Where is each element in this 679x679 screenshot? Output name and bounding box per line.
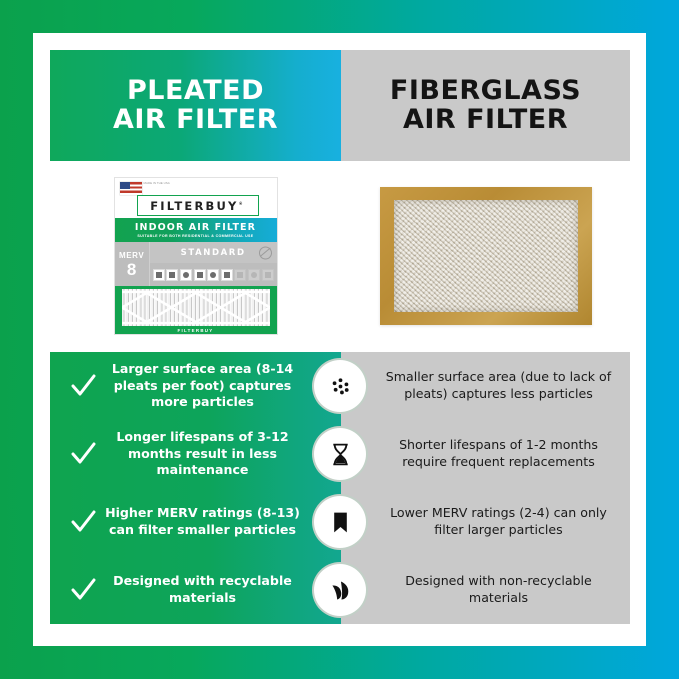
row-fiberglass-cell: Shorter lifespans of 1-2 months require … bbox=[341, 420, 630, 488]
row-pleated-text: Designed with recyclable materials bbox=[104, 573, 301, 606]
smog-icon bbox=[221, 269, 233, 281]
row-fiberglass-cell: Smaller surface area (due to lack of ple… bbox=[341, 352, 630, 420]
particles-icon bbox=[312, 358, 368, 414]
fiberglass-product-cell bbox=[341, 161, 630, 351]
row-fiberglass-cell: Designed with non-recyclable materials bbox=[341, 556, 630, 624]
pleated-media-window: FILTERBUY bbox=[115, 286, 277, 334]
header-pleated-line1: PLEATED bbox=[113, 77, 278, 105]
package-spec-right: STANDARD bbox=[150, 242, 277, 286]
row-pleated-text: Longer lifespans of 3-12 months result i… bbox=[104, 429, 301, 479]
header-pleated-line2: AIR FILTER bbox=[113, 106, 278, 134]
row-fiberglass-text: Shorter lifespans of 1-2 months require … bbox=[383, 437, 614, 470]
header-banner: PLEATED AIR FILTER FIBERGLASS AIR FILTER bbox=[50, 50, 630, 161]
row-pleated-text: Larger surface area (8-14 pleats per foo… bbox=[104, 361, 301, 411]
virus-icon bbox=[248, 269, 260, 281]
support-wire-pattern bbox=[122, 289, 270, 326]
smoke-icon bbox=[262, 269, 274, 281]
poster-gradient-border: PLEATED AIR FILTER FIBERGLASS AIR FILTER… bbox=[0, 0, 679, 679]
capability-icon-strip bbox=[150, 263, 277, 286]
row-pleated-text: Higher MERV ratings (8-13) can filter sm… bbox=[104, 505, 301, 538]
pleated-product-cell: MADE IN THE USA FILTERBUY® INDOOR AIR FI… bbox=[50, 161, 341, 351]
media-foot-brand: FILTERBUY bbox=[115, 326, 277, 334]
row-fiberglass-cell: Lower MERV ratings (2-4) can only filter… bbox=[341, 488, 630, 556]
checkmark-icon bbox=[68, 507, 98, 537]
brand-name-text: FILTERBUY bbox=[150, 199, 238, 213]
band-sub-text: SUITABLE FOR BOTH RESIDENTIAL & COMMERCI… bbox=[137, 234, 253, 238]
table-row: Designed with recyclable materials Desig… bbox=[50, 556, 630, 624]
row-fiberglass-text: Lower MERV ratings (2-4) can only filter… bbox=[383, 505, 614, 538]
white-frame: PLEATED AIR FILTER FIBERGLASS AIR FILTER… bbox=[33, 33, 646, 646]
mold-icon bbox=[194, 269, 206, 281]
package-spec-section: MERV 8 STANDARD bbox=[115, 242, 277, 286]
row-fiberglass-text: Designed with non-recyclable materials bbox=[383, 573, 614, 606]
brand-tm: ® bbox=[239, 201, 245, 206]
row-pleated-cell: Higher MERV ratings (8-13) can filter sm… bbox=[50, 488, 341, 556]
comparison-table: Larger surface area (8-14 pleats per foo… bbox=[50, 352, 630, 627]
header-fiberglass-title: FIBERGLASS AIR FILTER bbox=[390, 77, 581, 134]
header-fiberglass-line1: FIBERGLASS bbox=[390, 77, 581, 105]
header-fiberglass-panel: FIBERGLASS AIR FILTER bbox=[341, 50, 630, 161]
merv-label: MERV bbox=[119, 251, 144, 260]
dander-icon bbox=[207, 269, 219, 281]
hourglass-icon bbox=[312, 426, 368, 482]
brand-logo-box: FILTERBUY® bbox=[137, 195, 259, 216]
dust-icon bbox=[153, 269, 165, 281]
merv-badge: MERV 8 bbox=[115, 242, 150, 286]
header-fiberglass-line2: AIR FILTER bbox=[390, 106, 581, 134]
lint-icon bbox=[166, 269, 178, 281]
header-pleated-title: PLEATED AIR FILTER bbox=[113, 77, 278, 134]
pollen-icon bbox=[180, 269, 192, 281]
grade-row: STANDARD bbox=[150, 242, 277, 263]
checkmark-icon bbox=[68, 371, 98, 401]
leaf-icon bbox=[312, 562, 368, 618]
fiberglass-media-texture bbox=[394, 200, 578, 312]
merv-value: 8 bbox=[127, 261, 136, 278]
row-fiberglass-text: Smaller surface area (due to lack of ple… bbox=[383, 369, 614, 402]
row-pleated-cell: Designed with recyclable materials bbox=[50, 556, 341, 624]
checkmark-icon bbox=[68, 575, 98, 605]
table-row: Longer lifespans of 3-12 months result i… bbox=[50, 420, 630, 488]
usa-flag-icon bbox=[120, 182, 142, 195]
grade-label: STANDARD bbox=[181, 248, 246, 258]
fiberglass-filter-photo bbox=[380, 187, 592, 325]
product-images-band: MADE IN THE USA FILTERBUY® INDOOR AIR FI… bbox=[50, 161, 630, 351]
bookmark-icon bbox=[312, 494, 368, 550]
bacteria-icon bbox=[234, 269, 246, 281]
checkmark-icon bbox=[68, 439, 98, 469]
row-pleated-cell: Longer lifespans of 3-12 months result i… bbox=[50, 420, 341, 488]
no-smoke-icon bbox=[259, 246, 272, 259]
table-row: Higher MERV ratings (8-13) can filter sm… bbox=[50, 488, 630, 556]
header-pleated-panel: PLEATED AIR FILTER bbox=[50, 50, 341, 161]
table-row: Larger surface area (8-14 pleats per foo… bbox=[50, 352, 630, 420]
band-main-text: INDOOR AIR FILTER bbox=[135, 222, 256, 233]
row-pleated-cell: Larger surface area (8-14 pleats per foo… bbox=[50, 352, 341, 420]
package-top-section: MADE IN THE USA FILTERBUY® bbox=[115, 178, 277, 218]
indoor-air-filter-band: INDOOR AIR FILTER SUITABLE FOR BOTH RESI… bbox=[115, 218, 277, 242]
pleated-filter-package: MADE IN THE USA FILTERBUY® INDOOR AIR FI… bbox=[114, 177, 278, 335]
brand-name: FILTERBUY® bbox=[150, 199, 245, 213]
made-in-usa-caption: MADE IN THE USA bbox=[144, 182, 170, 186]
